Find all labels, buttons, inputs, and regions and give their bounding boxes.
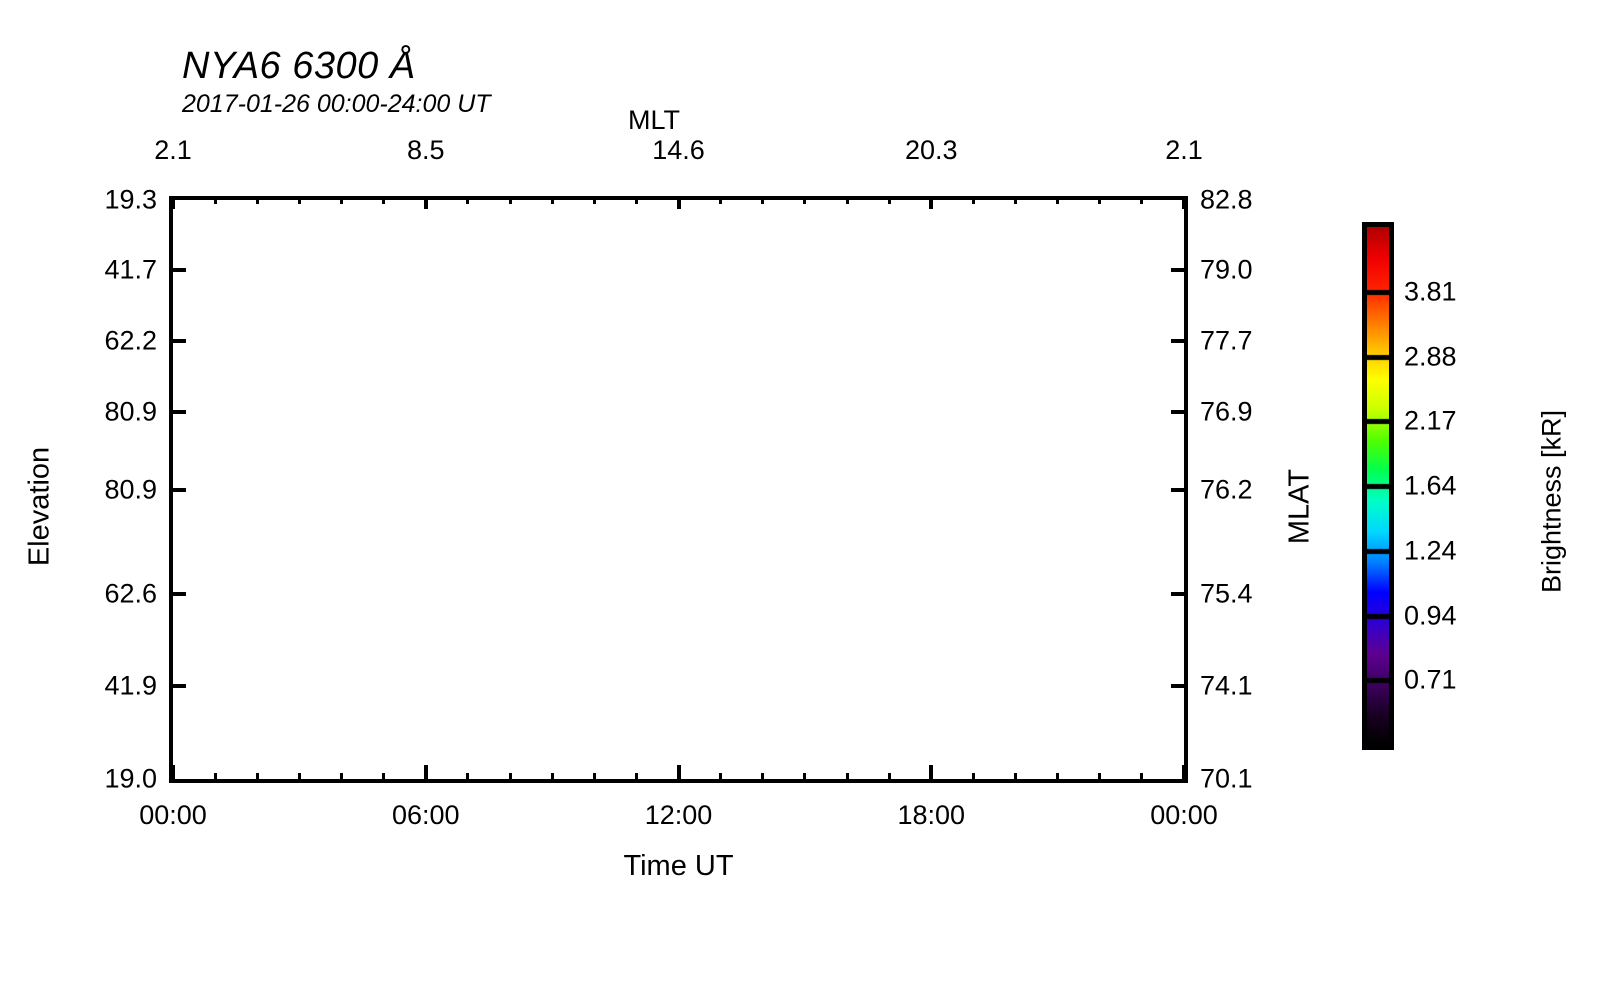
colorbar-tick-label-2: 2.17: [1404, 406, 1457, 437]
left-axis-tick-6: [169, 684, 186, 688]
right-axis-tick-6: [1171, 684, 1188, 688]
mlt-tick-label-2: 14.6: [652, 135, 705, 166]
colorbar-axis-title: Brightness [kR]: [1537, 352, 1568, 652]
top-axis-minor-tick-3: [298, 196, 301, 204]
right-axis-tick-4: [1171, 488, 1188, 492]
left-axis-tick-4: [169, 488, 186, 492]
elevation-tick-label-3: 80.9: [104, 397, 157, 428]
bottom-axis-minor-tick-14: [761, 773, 764, 783]
bottom-axis-minor-tick-4: [340, 773, 343, 783]
top-axis-major-tick-1: [424, 196, 428, 209]
top-axis-major-tick-2: [677, 196, 681, 209]
bottom-axis-major-tick-2: [677, 765, 681, 783]
top-axis-minor-tick-21: [1056, 196, 1059, 204]
plot-frame: [169, 196, 1188, 783]
top-axis-minor-tick-8: [509, 196, 512, 204]
mlat-tick-label-5: 75.4: [1200, 579, 1253, 610]
time-tick-label-3: 18:00: [897, 800, 965, 831]
mlat-tick-label-0: 82.8: [1200, 185, 1253, 216]
mlt-axis-title: MLT: [628, 105, 680, 136]
colorbar-tick-label-1: 2.88: [1404, 341, 1457, 372]
elevation-tick-label-1: 41.7: [104, 254, 157, 285]
bottom-axis-minor-tick-8: [509, 773, 512, 783]
left-axis-tick-2: [169, 339, 186, 343]
bottom-axis-minor-tick-23: [1140, 773, 1143, 783]
bottom-axis-minor-tick-22: [1098, 773, 1101, 783]
bottom-axis-minor-tick-11: [635, 773, 638, 783]
top-axis-minor-tick-2: [256, 196, 259, 204]
elevation-tick-label-7: 19.0: [104, 764, 157, 795]
top-axis-minor-tick-11: [635, 196, 638, 204]
colorbar-gradient: [1367, 227, 1389, 745]
bottom-axis-minor-tick-19: [972, 773, 975, 783]
bottom-axis-minor-tick-16: [846, 773, 849, 783]
mlat-tick-label-3: 76.9: [1200, 397, 1253, 428]
bottom-axis-minor-tick-17: [888, 773, 891, 783]
bottom-axis-minor-tick-13: [719, 773, 722, 783]
elevation-tick-label-6: 41.9: [104, 671, 157, 702]
elevation-tick-label-4: 80.9: [104, 474, 157, 505]
left-axis-tick-5: [169, 592, 186, 596]
mlt-tick-label-0: 2.1: [154, 135, 192, 166]
top-axis-minor-tick-15: [803, 196, 806, 204]
colorbar: [1362, 222, 1394, 750]
mlat-tick-label-4: 76.2: [1200, 474, 1253, 505]
elevation-tick-label-0: 19.3: [104, 185, 157, 216]
bottom-axis-minor-tick-2: [256, 773, 259, 783]
top-axis-minor-tick-5: [382, 196, 385, 204]
bottom-axis-minor-tick-7: [466, 773, 469, 783]
left-axis-tick-1: [169, 268, 186, 272]
right-axis-tick-1: [1171, 268, 1188, 272]
time-tick-label-1: 06:00: [392, 800, 460, 831]
top-axis-minor-tick-4: [340, 196, 343, 204]
elevation-axis-title: Elevation: [24, 407, 57, 607]
top-axis-minor-tick-17: [888, 196, 891, 204]
right-axis-tick-3: [1171, 410, 1188, 414]
mlt-tick-label-4: 2.1: [1165, 135, 1203, 166]
colorbar-tick-label-6: 0.71: [1404, 665, 1457, 696]
colorbar-tick-label-0: 3.81: [1404, 276, 1457, 307]
bottom-axis-minor-tick-15: [803, 773, 806, 783]
top-axis-minor-tick-10: [593, 196, 596, 204]
top-axis-minor-tick-7: [466, 196, 469, 204]
bottom-axis-minor-tick-3: [298, 773, 301, 783]
bottom-axis-minor-tick-9: [551, 773, 554, 783]
bottom-axis-major-tick-3: [929, 765, 933, 783]
time-tick-label-0: 00:00: [139, 800, 207, 831]
bottom-axis-major-tick-0: [171, 765, 175, 783]
time-tick-label-2: 12:00: [645, 800, 713, 831]
colorbar-tick-label-4: 1.24: [1404, 535, 1457, 566]
top-axis-minor-tick-13: [719, 196, 722, 204]
top-axis-major-tick-4: [1182, 196, 1186, 209]
bottom-axis-minor-tick-10: [593, 773, 596, 783]
bottom-axis-minor-tick-20: [1014, 773, 1017, 783]
top-axis-major-tick-3: [929, 196, 933, 209]
mlat-tick-label-6: 74.1: [1200, 671, 1253, 702]
top-axis-minor-tick-16: [846, 196, 849, 204]
top-axis-minor-tick-23: [1140, 196, 1143, 204]
top-axis-major-tick-0: [171, 196, 175, 209]
top-axis-minor-tick-22: [1098, 196, 1101, 204]
elevation-tick-label-2: 62.2: [104, 325, 157, 356]
right-axis-tick-5: [1171, 592, 1188, 596]
top-axis-minor-tick-14: [761, 196, 764, 204]
left-axis-tick-3: [169, 410, 186, 414]
colorbar-tick-label-3: 1.64: [1404, 471, 1457, 502]
mlt-tick-label-3: 20.3: [905, 135, 958, 166]
time-axis-title: Time UT: [169, 850, 1188, 883]
bottom-axis-minor-tick-1: [214, 773, 217, 783]
elevation-tick-label-5: 62.6: [104, 579, 157, 610]
mlat-tick-label-7: 70.1: [1200, 764, 1253, 795]
mlat-tick-label-2: 77.7: [1200, 325, 1253, 356]
mlat-tick-label-1: 79.0: [1200, 254, 1253, 285]
top-axis-minor-tick-20: [1014, 196, 1017, 204]
top-axis-minor-tick-19: [972, 196, 975, 204]
top-axis-minor-tick-9: [551, 196, 554, 204]
colorbar-tick-label-5: 0.94: [1404, 600, 1457, 631]
mlat-axis-title: MLAT: [1284, 407, 1317, 607]
title-block: NYA6 6300 Å 2017-01-26 00:00-24:00 UT: [182, 44, 802, 119]
bottom-axis-major-tick-1: [424, 765, 428, 783]
right-axis-tick-2: [1171, 339, 1188, 343]
page-title: NYA6 6300 Å: [182, 44, 802, 88]
time-tick-label-4: 00:00: [1150, 800, 1218, 831]
bottom-axis-major-tick-4: [1182, 765, 1186, 783]
bottom-axis-minor-tick-21: [1056, 773, 1059, 783]
bottom-axis-minor-tick-5: [382, 773, 385, 783]
page-subtitle: 2017-01-26 00:00-24:00 UT: [182, 89, 802, 119]
top-axis-minor-tick-1: [214, 196, 217, 204]
mlt-tick-label-1: 8.5: [407, 135, 445, 166]
